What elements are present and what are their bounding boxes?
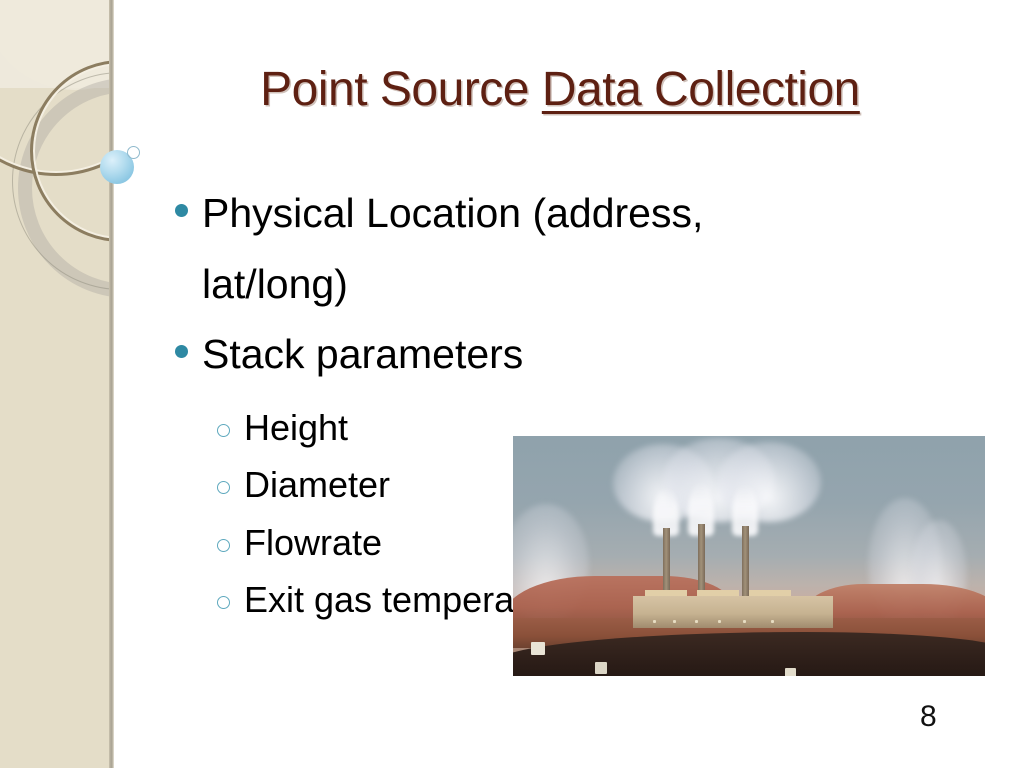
sidebar-edge-divider [109,0,114,768]
photo-plant-building [633,596,833,628]
bullet-text: Physical Location (address, lat/long) [202,178,842,319]
slide-canvas: Point Source Data Collection Physical Lo… [0,0,1024,768]
slide-title-underlined: Data Collection [542,63,860,116]
photo-light [673,620,676,623]
power-plant-photo [513,436,985,676]
bullet-dot-icon [175,204,188,217]
sub-bullet-ring-icon [217,481,230,494]
slide-title: Point Source Data Collection [140,62,980,117]
sub-bullet-ring-icon [217,596,230,609]
photo-light [718,620,721,623]
photo-light [743,620,746,623]
page-number: 8 [920,700,937,734]
sub-bullet-ring-icon [217,539,230,552]
photo-light [695,620,698,623]
bullet-dot-icon [175,345,188,358]
photo-smokestack [698,524,705,600]
sidebar-small-ring-icon [127,146,140,159]
sub-bullet-text: Diameter [244,465,390,505]
sub-bullet-text: Height [244,408,348,448]
photo-foreground-object [531,642,545,655]
photo-light [771,620,774,623]
bullet-item: Stack parameters [175,319,875,390]
bullet-item: Physical Location (address, lat/long) [175,178,875,319]
bullet-text: Stack parameters [202,319,842,390]
sub-bullet-text: Flowrate [244,523,382,563]
photo-foreground-object [785,668,796,676]
decorative-sidebar [0,0,113,768]
photo-light [653,620,656,623]
slide-title-plain: Point Source [260,63,542,116]
photo-smokestack [742,526,749,600]
sub-bullet-ring-icon [217,424,230,437]
photo-foreground-object [595,662,607,674]
